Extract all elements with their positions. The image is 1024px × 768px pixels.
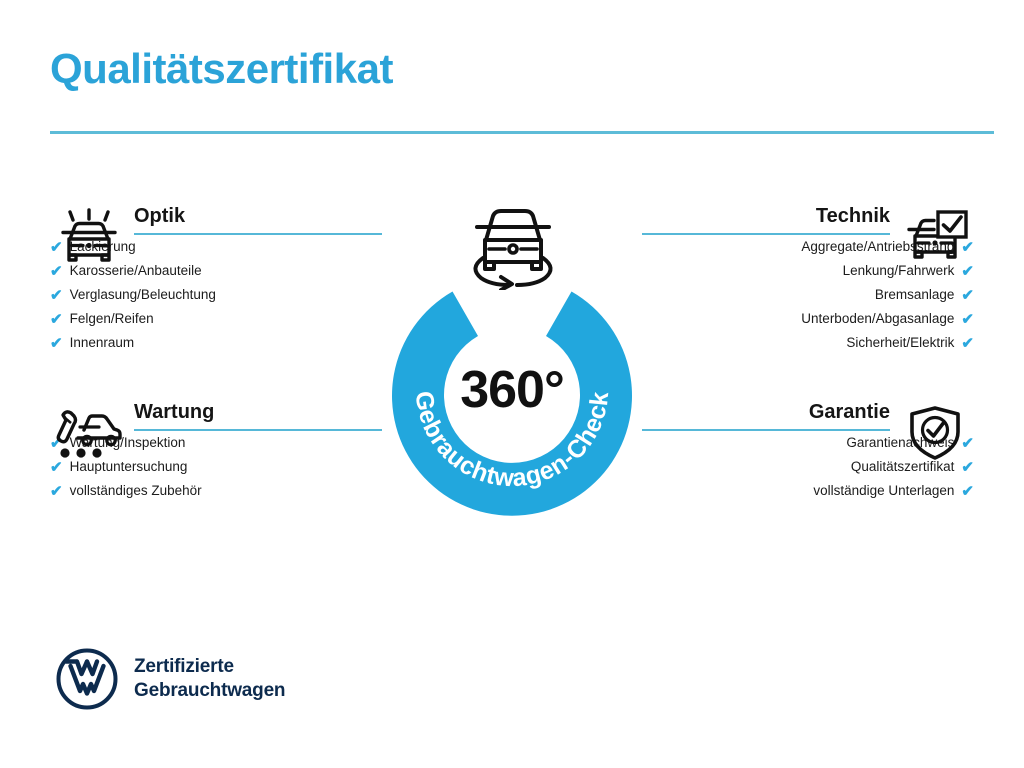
list-item-label: Felgen/Reifen: [70, 312, 154, 326]
page-title: Qualitätszertifikat: [50, 48, 393, 90]
check-icon: ✔: [50, 484, 63, 499]
list-item-label: Bremsanlage: [875, 288, 955, 302]
list-item: ✔Innenraum: [50, 331, 430, 355]
list-item: ✔Felgen/Reifen: [50, 307, 430, 331]
check-icon: ✔: [50, 312, 63, 327]
list-item-label: vollständige Unterlagen: [813, 484, 954, 498]
car-front-checkbox-icon: [896, 206, 974, 268]
list-item: Sicherheit/Elektrik✔: [594, 331, 974, 355]
header-divider: [50, 131, 994, 134]
check-icon: ✔: [961, 484, 974, 499]
list-item-label: vollständiges Zubehör: [70, 484, 202, 498]
list-item: Unterboden/Abgasanlage✔: [594, 307, 974, 331]
list-item: Bremsanlage✔: [594, 283, 974, 307]
check-icon: ✔: [961, 288, 974, 303]
list-item: vollständige Unterlagen✔: [594, 479, 974, 503]
section-heading-garantie: Garantie: [642, 402, 890, 429]
list-item-label: Verglasung/Beleuchtung: [70, 288, 216, 302]
car-front-lights-icon: [50, 206, 128, 268]
list-item-label: Sicherheit/Elektrik: [846, 336, 954, 350]
car-front-rotate-icon: [461, 194, 565, 290]
vw-logo-icon: [56, 648, 118, 710]
brand-text: Zertifizierte Gebrauchtwagen: [134, 655, 285, 703]
check-icon: ✔: [50, 288, 63, 303]
brand-lockup: Zertifizierte Gebrauchtwagen: [56, 648, 285, 710]
list-item-label: Unterboden/Abgasanlage: [801, 312, 954, 326]
section-optik: Optik ✔Lackierung ✔Karosserie/Anbauteile…: [50, 206, 430, 355]
brand-text-line2: Gebrauchtwagen: [134, 679, 285, 703]
section-wartung: Wartung ✔Wartung/Inspektion ✔Hauptunters…: [50, 402, 430, 503]
check-icon: ✔: [50, 336, 63, 351]
gebrauchtwagen-check-badge: Gebrauchtwagen-Check 360°: [378, 256, 646, 524]
wrench-car-service-icon: [50, 402, 128, 464]
section-heading-technik: Technik: [642, 206, 890, 233]
section-technik: Technik Aggregate/Antriebsstrang✔ Lenkun…: [594, 206, 974, 355]
list-item: ✔vollständiges Zubehör: [50, 479, 430, 503]
check-icon: ✔: [961, 312, 974, 327]
list-item-label: Innenraum: [70, 336, 135, 350]
check-icon: ✔: [961, 336, 974, 351]
section-heading-optik: Optik: [134, 206, 382, 233]
list-item: ✔Verglasung/Beleuchtung: [50, 283, 430, 307]
section-garantie: Garantie Garantienachweis✔ Qualitätszert…: [594, 402, 974, 503]
section-heading-wartung: Wartung: [134, 402, 382, 429]
brand-text-line1: Zertifizierte: [134, 655, 285, 679]
shield-check-icon: [896, 402, 974, 464]
